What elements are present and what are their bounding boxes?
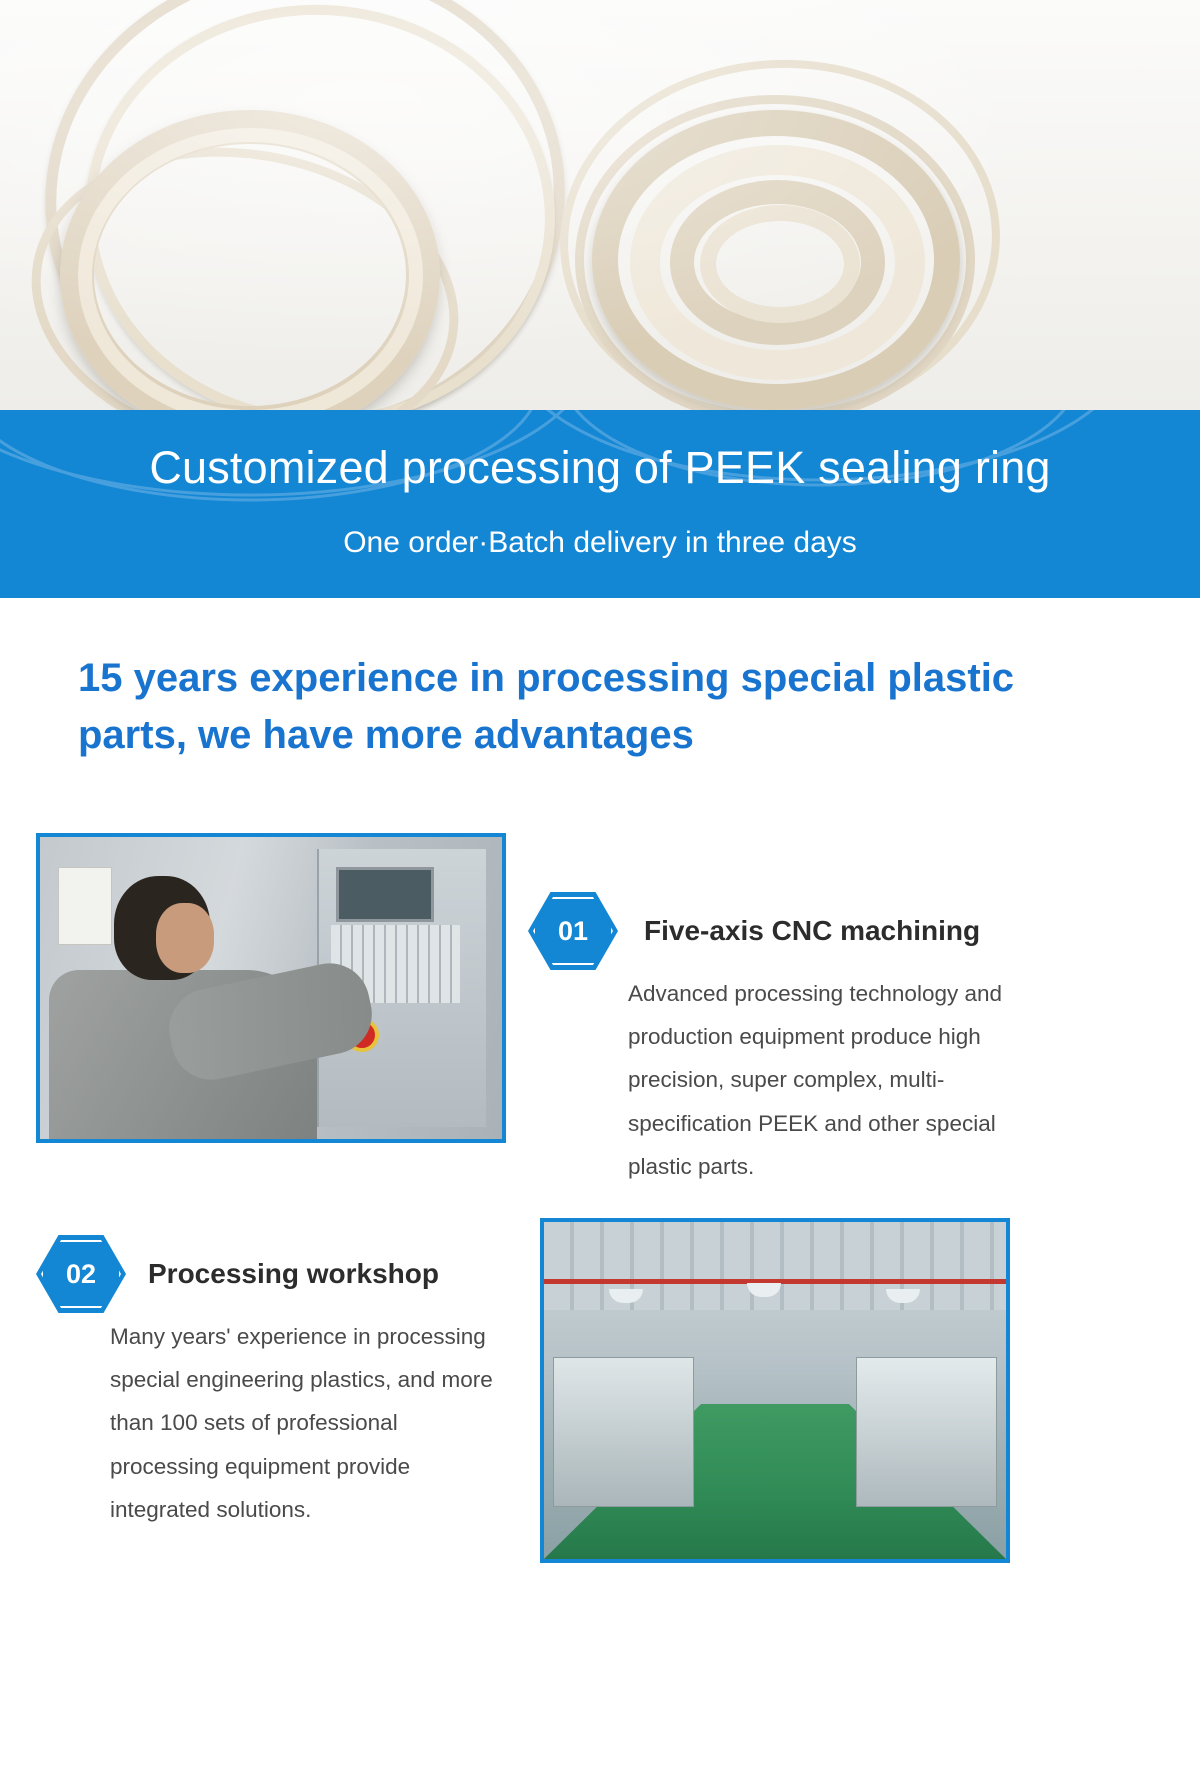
banner-subtitle: One order·Batch delivery in three days [0, 526, 1200, 560]
feature-number-02: 02 [41, 1240, 121, 1308]
feature-body-02: Many years' experience in processing spe… [110, 1315, 510, 1531]
worker-face [156, 903, 214, 973]
cnc-paper-sheet [58, 867, 112, 945]
hero-product-image: Beige PEEK sealing rings of various diam… [0, 0, 1200, 410]
cnc-scene [40, 837, 502, 1139]
cnc-screen [336, 867, 434, 921]
processing-workshop-photo: Factory workshop aisle with CNC machines… [540, 1218, 1010, 1563]
feature-title-02: Processing workshop [148, 1258, 439, 1290]
feature-badge-01: 01 [528, 892, 618, 970]
sealing-ring-shape [700, 205, 860, 323]
banner-title: Customized processing of PEEK sealing ri… [0, 442, 1200, 494]
cnc-operator-photo: Worker operating a CNC machine control p… [36, 833, 506, 1143]
page-headline: 15 years experience in processing specia… [78, 650, 1078, 764]
feature-body-01: Advanced processing technology and produ… [628, 972, 1058, 1188]
workshop-machine-left [553, 1357, 694, 1507]
banner: Customized processing of PEEK sealing ri… [0, 410, 1200, 598]
feature-badge-02: 02 [36, 1235, 126, 1313]
feature-title-01: Five-axis CNC machining [644, 915, 980, 947]
feature-number-01: 01 [533, 897, 613, 965]
banner-arc-decoration [0, 410, 1200, 598]
workshop-machine-right [856, 1357, 997, 1507]
sealing-ring-shape [78, 128, 423, 410]
workshop-scene [544, 1222, 1006, 1559]
